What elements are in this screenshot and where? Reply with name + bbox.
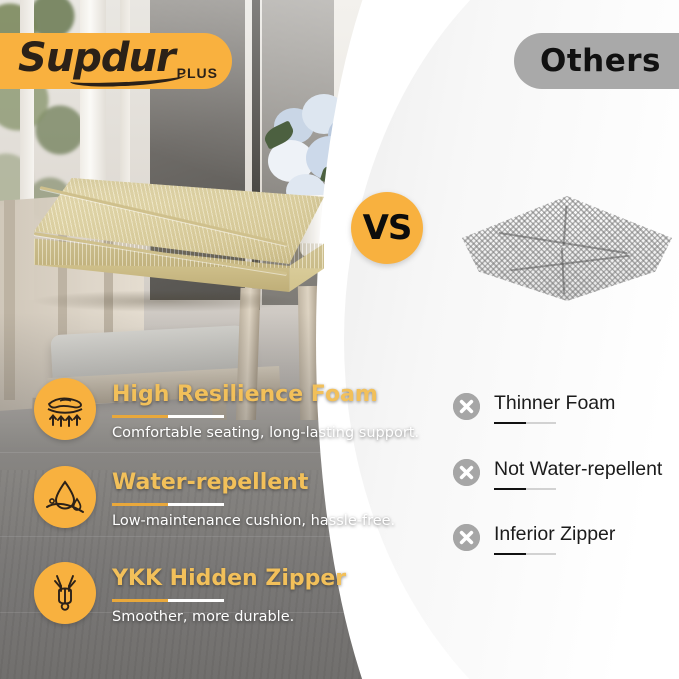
feature-ykk-hidden-zipper: YKK Hidden Zipper Smoother, more durable… bbox=[34, 562, 346, 626]
con-text: Not Water-repellent bbox=[494, 457, 662, 490]
feature-water-repellent: Water-repellent Low-maintenance cushion,… bbox=[34, 466, 395, 530]
brand-logo-banner: Supdur PLUS bbox=[0, 33, 232, 89]
others-banner: Others bbox=[514, 33, 679, 89]
foam-support-icon bbox=[34, 378, 96, 440]
con-thinner-foam: Thinner Foam bbox=[453, 391, 615, 424]
x-circle-icon bbox=[453, 459, 480, 486]
con-divider bbox=[494, 422, 556, 424]
vs-label: VS bbox=[363, 208, 412, 248]
con-title: Not Water-repellent bbox=[494, 457, 662, 481]
brand-suffix: PLUS bbox=[177, 65, 218, 81]
con-divider bbox=[494, 553, 556, 555]
vs-badge: VS bbox=[351, 192, 423, 264]
con-title: Thinner Foam bbox=[494, 391, 615, 415]
feature-divider bbox=[112, 503, 224, 506]
brand-logo-mark: Supdur PLUS bbox=[18, 39, 216, 83]
feature-text: High Resilience Foam Comfortable seating… bbox=[112, 378, 419, 442]
feature-high-resilience-foam: High Resilience Foam Comfortable seating… bbox=[34, 378, 419, 442]
competitor-cushion bbox=[462, 196, 672, 301]
feature-subtitle: Comfortable seating, long-lasting suppor… bbox=[112, 424, 419, 442]
con-text: Inferior Zipper bbox=[494, 522, 615, 555]
logo-swash-underline bbox=[70, 68, 186, 88]
feature-text: YKK Hidden Zipper Smoother, more durable… bbox=[112, 562, 346, 626]
con-inferior-zipper: Inferior Zipper bbox=[453, 522, 615, 555]
feature-title: Water-repellent bbox=[112, 470, 395, 496]
feature-divider bbox=[112, 415, 224, 418]
feature-subtitle: Low-maintenance cushion, hassle-free. bbox=[112, 512, 395, 530]
feature-subtitle: Smoother, more durable. bbox=[112, 608, 346, 626]
competitor-cushion-pattern bbox=[462, 196, 672, 301]
hero-cushion bbox=[34, 178, 324, 298]
zipper-icon bbox=[34, 562, 96, 624]
x-circle-icon bbox=[453, 524, 480, 551]
others-label: Others bbox=[540, 43, 661, 79]
feature-title: High Resilience Foam bbox=[112, 382, 419, 408]
con-not-water-repellent: Not Water-repellent bbox=[453, 457, 662, 490]
feature-text: Water-repellent Low-maintenance cushion,… bbox=[112, 466, 395, 530]
con-text: Thinner Foam bbox=[494, 391, 615, 424]
con-title: Inferior Zipper bbox=[494, 522, 615, 546]
comparison-infographic: Supdur PLUS Others VS bbox=[0, 0, 679, 679]
feature-divider bbox=[112, 599, 224, 602]
water-drop-icon bbox=[34, 466, 96, 528]
feature-title: YKK Hidden Zipper bbox=[112, 566, 346, 592]
x-circle-icon bbox=[453, 393, 480, 420]
con-divider bbox=[494, 488, 556, 490]
